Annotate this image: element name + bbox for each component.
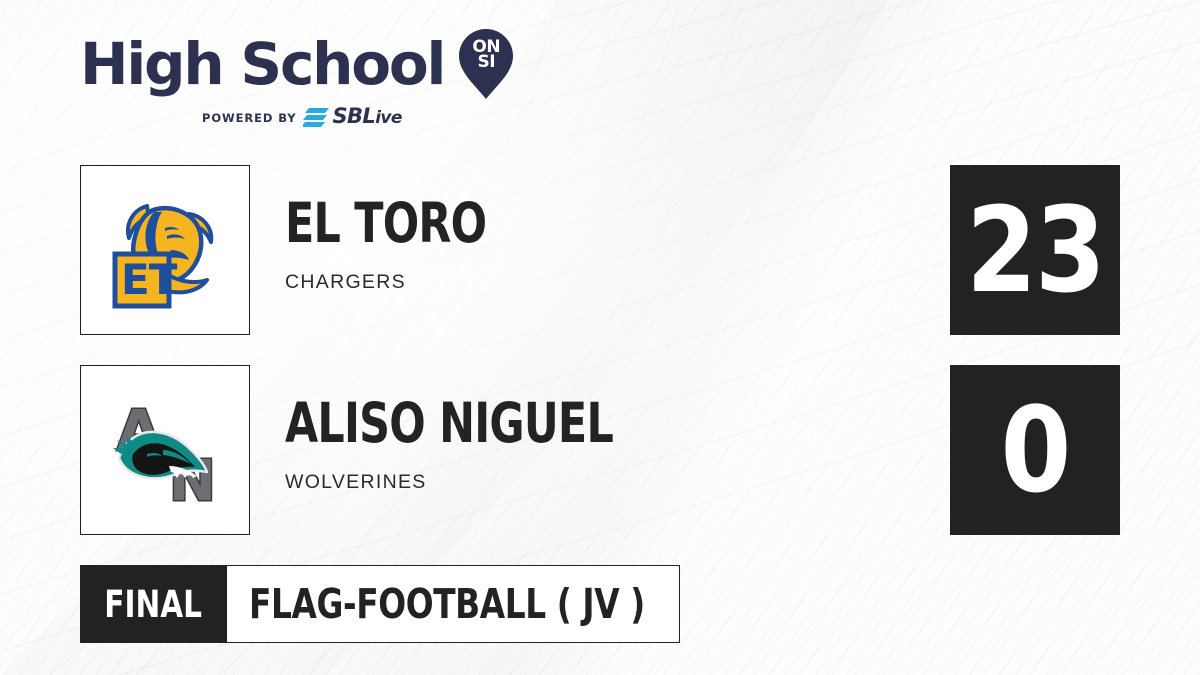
- onsi-pin-line2: SI: [458, 55, 514, 70]
- onsi-pin-text: ON SI: [458, 40, 514, 70]
- team-mascot: WOLVERINES: [285, 471, 925, 494]
- team-row-home: ET EL TORO CHARGERS 23: [80, 165, 1120, 335]
- el-toro-chargers-logo: ET: [80, 165, 250, 335]
- powered-by-row: POWERED BY SBLive: [80, 106, 510, 129]
- sport-label-panel: FLAG-FOOTBALL ( JV ): [227, 565, 680, 643]
- onsi-pin-icon: ON SI: [458, 28, 514, 100]
- svg-text:ET: ET: [121, 255, 178, 304]
- team-mascot: CHARGERS: [285, 271, 925, 294]
- aliso-niguel-wolverines-logo: A N: [80, 365, 250, 535]
- brand-title: High School: [80, 33, 444, 95]
- game-status-bar: FINAL FLAG-FOOTBALL ( JV ): [80, 565, 680, 643]
- score-value: 0: [1001, 391, 1070, 509]
- status-badge: FINAL: [80, 565, 227, 643]
- brand-header: High School ON SI POWERED BY SBLive: [80, 28, 510, 140]
- team-text-home: EL TORO CHARGERS: [285, 195, 925, 294]
- score-box-away: 0: [950, 365, 1120, 535]
- score-box-home: 23: [950, 165, 1120, 335]
- brand-logo-row: High School ON SI: [80, 28, 510, 100]
- team-text-away: ALISO NIGUEL WOLVERINES: [285, 395, 925, 494]
- team-name: EL TORO: [285, 195, 784, 251]
- sblive-logo: SBLive: [303, 106, 401, 129]
- sblive-s-mark-icon: [303, 108, 329, 127]
- sblive-wordmark: SBLive: [332, 106, 401, 129]
- sport-label: FLAG-FOOTBALL ( JV ): [249, 584, 645, 625]
- sblive-word-main: SBL: [332, 104, 375, 128]
- score-value: 23: [966, 191, 1104, 309]
- powered-by-label: POWERED BY: [202, 111, 296, 125]
- scoreboard-graphic: High School ON SI POWERED BY SBLive: [0, 0, 1200, 675]
- status-badge-label: FINAL: [105, 586, 203, 623]
- team-name: ALISO NIGUEL: [285, 395, 784, 451]
- team-row-away: A N ALISO NIGUEL WOLVERINES: [80, 365, 1120, 535]
- sblive-word-suffix: ive: [375, 108, 402, 128]
